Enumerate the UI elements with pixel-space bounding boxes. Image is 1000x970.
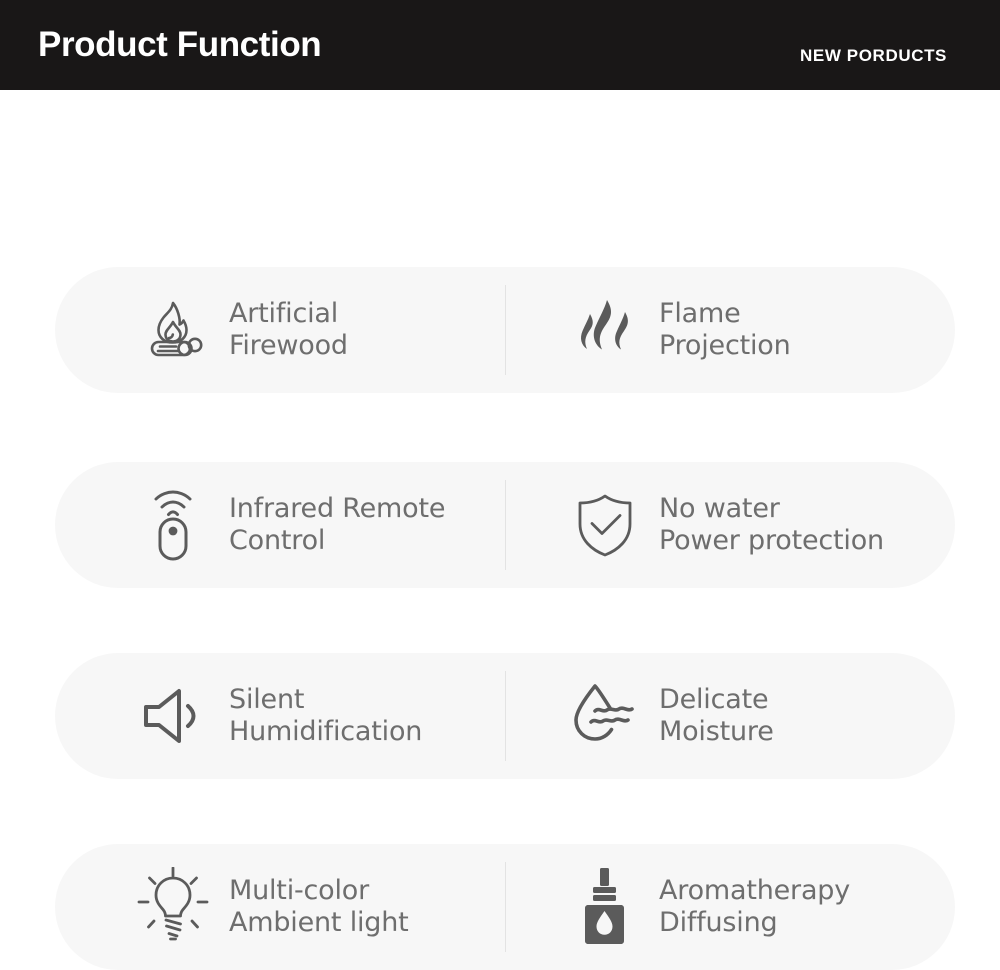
feature-item-artificial-firewood[interactable]: Artificial Firewood [55,267,505,393]
page-header: Product Function NEW PORDUCTS [0,0,1000,90]
feature-label: No water Power protection [659,493,884,557]
feature-item-flame-projection[interactable]: Flame Projection [505,267,955,393]
feature-row: Silent Humidification Delicate Moisture [55,653,955,779]
feature-row: Infrared Remote Control No water Power p… [55,462,955,588]
shield-check-icon [565,480,645,570]
feature-label: Silent Humidification [229,684,422,748]
feature-label: Delicate Moisture [659,684,774,748]
water-droplet-waves-icon [565,671,645,761]
feature-label: Flame Projection [659,298,791,362]
flame-waves-icon [565,285,645,375]
feature-label: Infrared Remote Control [229,493,445,557]
new-products-badge: NEW PORDUCTS [800,46,947,66]
dropper-bottle-icon [565,862,645,952]
remote-control-icon [133,480,213,570]
feature-label: Artificial Firewood [229,298,348,362]
feature-item-no-water-power-protection[interactable]: No water Power protection [505,462,955,588]
feature-item-delicate-moisture[interactable]: Delicate Moisture [505,653,955,779]
feature-row: Multi-color Ambient light Aromatherapy D… [55,844,955,970]
feature-label: Multi-color Ambient light [229,875,409,939]
feature-item-infrared-remote-control[interactable]: Infrared Remote Control [55,462,505,588]
feature-item-silent-humidification[interactable]: Silent Humidification [55,653,505,779]
feature-item-aromatherapy-diffusing[interactable]: Aromatherapy Diffusing [505,844,955,970]
light-bulb-rays-icon [133,862,213,952]
page-title: Product Function [38,24,321,66]
feature-item-multi-color-ambient-light[interactable]: Multi-color Ambient light [55,844,505,970]
speaker-low-volume-icon [133,671,213,761]
feature-label: Aromatherapy Diffusing [659,875,850,939]
feature-row: Artificial Firewood Flame Projection [55,267,955,393]
campfire-firewood-icon [133,285,213,375]
